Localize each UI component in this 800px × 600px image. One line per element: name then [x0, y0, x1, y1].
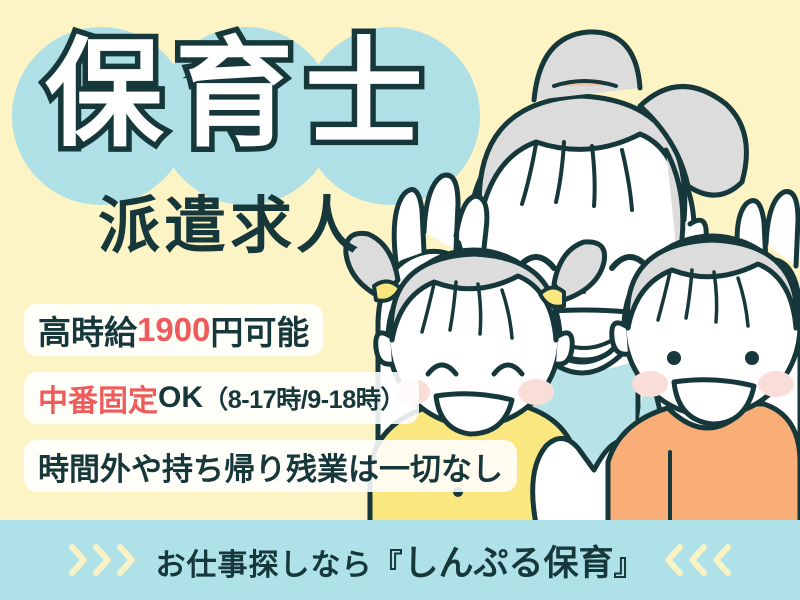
- brand-name: しんぷる保育: [403, 544, 613, 583]
- feature-trail-text: 円可能: [210, 306, 309, 354]
- chevron-left-icon: [687, 543, 709, 577]
- feature-lead-text: OK: [158, 381, 203, 415]
- bottom-tagline-bar: お仕事探しなら『しんぷる保育』: [0, 520, 800, 600]
- feature-accent-wage: 1900: [137, 311, 210, 349]
- feature-trail-hours: （8-17時/9-18時）: [203, 380, 405, 416]
- feature-pill-no-overtime: 時間外や持ち帰り残業は一切なし: [24, 440, 517, 492]
- feature-pill-mid-shift: 中番固定OK（8-17時/9-18時）: [24, 372, 419, 424]
- chevron-right-icon: [91, 543, 113, 577]
- tagline-trail: 』: [614, 549, 645, 582]
- chevron-left-icon: [711, 543, 733, 577]
- feature-lead-text: 時間外や持ち帰り残業は一切なし: [38, 444, 503, 489]
- chevron-left-icon: [663, 543, 685, 577]
- page-title: 保育士: [0, 36, 480, 154]
- tagline-lead: お仕事探しなら『: [155, 549, 403, 582]
- feature-pill-high-wage: 高時給1900円可能: [24, 304, 323, 356]
- chevron-right-icon: [67, 543, 89, 577]
- feature-accent-shift: 中番固定: [38, 376, 158, 420]
- feature-lead-text: 高時給: [38, 306, 137, 354]
- chevron-right-icon: [115, 543, 137, 577]
- tagline-text: お仕事探しなら『しんぷる保育』: [155, 535, 644, 586]
- job-ad-banner: 保育士 派遣求人 高時給1900円可能 中番固定OK（8-17時/9-18時） …: [0, 0, 800, 600]
- chevron-right-group: [67, 543, 137, 577]
- page-subtitle: 派遣求人: [0, 196, 460, 258]
- chevron-left-group: [663, 543, 733, 577]
